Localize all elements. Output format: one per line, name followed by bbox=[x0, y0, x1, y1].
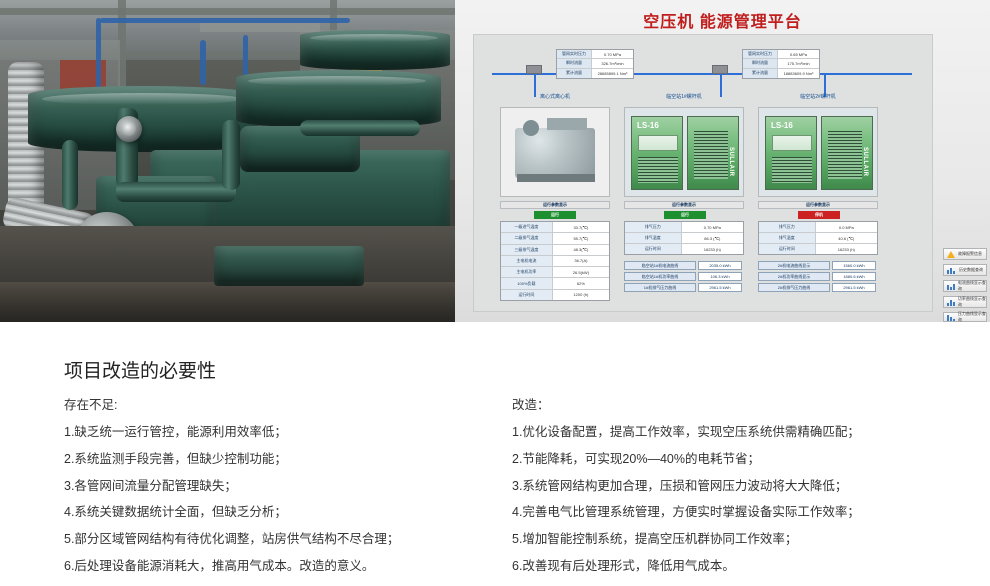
list-item: 2.节能降耗，可实现20%—40%的电耗节省； bbox=[512, 453, 972, 467]
list-item: 3.系统管网结构更加合理，压损和管网压力波动将大大降低； bbox=[512, 480, 972, 494]
table-row: 运行时间 1200 (h) bbox=[501, 290, 609, 300]
pval: 40.6 (℃) bbox=[816, 233, 877, 243]
list-item: 6.后处理设备能源消耗大，推高用气成本。改造的意义。 bbox=[64, 560, 484, 574]
pkey: 主电机电流 bbox=[501, 256, 553, 266]
infoval: 326.7m³/min bbox=[592, 59, 633, 67]
compressor-room-photo bbox=[0, 0, 455, 322]
list-item: 5.增加智能控制系统，提高空压机群协同工作效率； bbox=[512, 533, 972, 547]
warning-icon bbox=[947, 251, 955, 258]
pval: 16233 (h) bbox=[816, 244, 877, 254]
table-row: 主电机电流 36.7(A) bbox=[501, 256, 609, 267]
left-text-column: 存在不足: 1.缺乏统一运行管控，能源利用效率低； 2.系统监测手段完善，但缺少… bbox=[64, 394, 484, 586]
screw2-model-badge: LS-16 bbox=[771, 121, 793, 130]
chart-icon bbox=[947, 283, 955, 290]
screw1-curve-value-3: 2961.5 kWh bbox=[698, 283, 742, 292]
air-receiver-tank-3 bbox=[300, 30, 450, 70]
screw2-status-badge: 停机 bbox=[798, 211, 840, 219]
list-item: 2.系统监测手段完善，但缺少控制功能； bbox=[64, 453, 484, 467]
centrifugal-impeller bbox=[523, 120, 539, 136]
left-column-heading: 存在不足: bbox=[64, 394, 484, 413]
screw2-param-table: 排气压力 0.0 MPa 排气温度 40.6 (℃) 运行时间 16233 (h… bbox=[758, 221, 878, 255]
screw1-label-wrap: 临空站1#螺杆机 bbox=[624, 93, 744, 107]
table-row: 排气压力 0.0 MPa bbox=[759, 222, 877, 233]
pkey: 排气温度 bbox=[625, 233, 682, 243]
pkey: 运行时间 bbox=[759, 244, 816, 254]
screw2-label-wrap: 临空站2#螺杆机 bbox=[758, 93, 878, 107]
pkey: 运行时间 bbox=[501, 290, 553, 300]
centrifugal-frame bbox=[500, 107, 610, 197]
main-bus-line bbox=[492, 73, 912, 75]
base-frame bbox=[214, 246, 364, 286]
list-item: 5.部分区域管网结构有待优化调整，站房供气结构不尽合理； bbox=[64, 533, 484, 547]
infokey: 瞬时流量 bbox=[743, 59, 778, 67]
infoval: 175.7m³/min bbox=[778, 59, 819, 67]
right-header-infobox: 管网实时压力 0.65 MPa 瞬时流量 175.7m³/min 累计流量 18… bbox=[742, 49, 820, 79]
screw2-params-header: 运行参数显示 bbox=[758, 201, 878, 209]
blue-pipe-drop bbox=[96, 18, 101, 88]
screw1-curve-value-1: 2035.0 kWh bbox=[698, 261, 742, 270]
list-item: 1.缺乏统一运行管控，能源利用效率低； bbox=[64, 426, 484, 440]
right-column-heading: 改造： bbox=[512, 394, 972, 413]
pval: 33.7(℃) bbox=[553, 222, 609, 232]
side-button-pressure-curve[interactable]: 压力曲线显示查询 bbox=[943, 312, 987, 322]
pval: 55.7(℃) bbox=[553, 233, 609, 243]
table-row: 排气温度 86.3 (℃) bbox=[625, 233, 743, 244]
centrifugal-duct bbox=[547, 118, 587, 130]
screw2-button-group: 2#机电流曲线显示 1560.0 kWh 2#机功率曲线显示 1880.6 kW… bbox=[758, 261, 878, 292]
infoval: 18883609.9 Nm³ bbox=[778, 69, 819, 78]
screw1-curve-button-3[interactable]: 1#机排气压力曲线 bbox=[624, 283, 696, 292]
pkey: 排气压力 bbox=[625, 222, 682, 232]
screw1-param-table: 排气压力 0.70 MPa 排气温度 86.3 (℃) 运行时间 16233 (… bbox=[624, 221, 744, 255]
page-title: 项目改造的必要性 bbox=[64, 356, 216, 383]
vertical-pipe-2 bbox=[222, 120, 240, 190]
infokey: 累计流量 bbox=[557, 69, 592, 78]
centrifugal-base bbox=[517, 174, 595, 182]
table-row: 主电机功率 26.5(kW) bbox=[501, 267, 609, 278]
device-label-screw-2: 临空站2#螺杆机 bbox=[758, 93, 878, 100]
table-row: 累计流量 28685899.1 Nm³ bbox=[557, 69, 633, 78]
infoval: 28685899.1 Nm³ bbox=[592, 69, 633, 78]
screw1-curve-button-2[interactable]: 临空站1#机功率曲线 bbox=[624, 272, 696, 281]
side-button-current-curve-label: 电流曲线显示查询 bbox=[958, 280, 986, 292]
pkey: 二级排气温度 bbox=[501, 233, 553, 243]
side-button-history-label: 历史数据查询 bbox=[959, 267, 983, 273]
side-button-current-curve[interactable]: 电流曲线显示查询 bbox=[943, 280, 987, 292]
list-item: 4.系统关键数据统计全面，但缺乏分析； bbox=[64, 506, 484, 520]
screw-machine-graphic-1b: SULLAIR bbox=[687, 116, 739, 190]
pval: 16233 (h) bbox=[682, 244, 743, 254]
pval: 26.5(kW) bbox=[553, 267, 609, 277]
blue-pipe-drop-2 bbox=[200, 40, 206, 85]
table-row: 瞬时流量 175.7m³/min bbox=[743, 59, 819, 68]
scada-title: 空压机 能源管理平台 bbox=[455, 8, 990, 32]
screw2-curve-value-1: 1560.0 kWh bbox=[832, 261, 876, 270]
horizontal-pipe bbox=[116, 182, 236, 202]
pkey: 主电机功率 bbox=[501, 267, 553, 277]
screw2-curve-button-1[interactable]: 2#机电流曲线显示 bbox=[758, 261, 830, 270]
list-item: 3.各管网间流量分配管理缺失； bbox=[64, 480, 484, 494]
side-button-power-curve-label: 功率曲线显示查询 bbox=[958, 296, 986, 308]
centrifugal-label-wrap: 离心式离心机 bbox=[500, 93, 610, 107]
screw1-brand-text: SULLAIR bbox=[728, 147, 734, 177]
table-row: 管网实时压力 0.70 MPa bbox=[557, 50, 633, 59]
table-row: 运行时间 16233 (h) bbox=[759, 244, 877, 254]
screw2-control-panel bbox=[772, 135, 812, 151]
list-item: 6.改善现有后处理形式，降低用气成本。 bbox=[512, 560, 972, 574]
screw1-button-group: 临空站1#机电流曲线 2035.0 kWh 临空站1#机功率曲线 106.3 k… bbox=[624, 261, 744, 292]
screw2-frame: LS-16 SULLAIR bbox=[758, 107, 878, 197]
list-item: 1.优化设备配置，提高工作效率，实现空压系统供需精确匹配； bbox=[512, 426, 972, 440]
list-item: 4.完善电气比管理系统管理，方便实时掌握设备实际工作效率； bbox=[512, 506, 972, 520]
pkey: 排气压力 bbox=[759, 222, 816, 232]
pval: 86.3 (℃) bbox=[682, 233, 743, 243]
table-row: 排气温度 40.6 (℃) bbox=[759, 233, 877, 244]
table-row: 三级排气温度 48.3(℃) bbox=[501, 245, 609, 256]
infokey: 累计流量 bbox=[743, 69, 778, 78]
pval: 1200 (h) bbox=[553, 290, 609, 300]
side-button-alarm[interactable]: 故障报警信息 bbox=[943, 248, 987, 260]
screw1-frame: LS-16 SULLAIR bbox=[624, 107, 744, 197]
right-text-column: 改造： 1.优化设备配置，提高工作效率，实现空压系统供需精确匹配； 2.节能降耗… bbox=[512, 394, 972, 586]
pval: 0.0 MPa bbox=[816, 222, 877, 232]
screw1-control-panel bbox=[638, 135, 678, 151]
table-row: 累计流量 18883609.9 Nm³ bbox=[743, 69, 819, 78]
pval: 0.70 MPa bbox=[682, 222, 743, 232]
screw1-params-header: 运行参数显示 bbox=[624, 201, 744, 209]
screw-machine-graphic-2: LS-16 bbox=[765, 116, 817, 190]
table-row: 运行时间 16233 (h) bbox=[625, 244, 743, 254]
chart-icon bbox=[947, 314, 955, 321]
pkey: 运行时间 bbox=[625, 244, 682, 254]
pkey: 一级进气温度 bbox=[501, 222, 553, 232]
top-image-strip: 空压机 能源管理平台 管网实时压力 0.70 MPa 瞬时流量 bbox=[0, 0, 990, 322]
valve-icon-2[interactable] bbox=[712, 65, 728, 74]
table-row: 管网实时压力 0.65 MPa bbox=[743, 50, 819, 59]
side-button-history[interactable]: 历史数据查询 bbox=[943, 264, 987, 276]
pval: 48.3(℃) bbox=[553, 245, 609, 255]
screw1b-vent-grille bbox=[694, 131, 728, 179]
table-row: 一级进气温度 33.7(℃) bbox=[501, 222, 609, 233]
blue-pipe-overhead bbox=[100, 18, 350, 23]
device-label-screw-1: 临空站1#螺杆机 bbox=[624, 93, 744, 100]
table-row: 排气压力 0.70 MPa bbox=[625, 222, 743, 233]
infokey: 管网实时压力 bbox=[557, 50, 592, 58]
side-button-alarm-label: 故障报警信息 bbox=[958, 251, 982, 257]
valve-handwheel bbox=[116, 116, 142, 142]
horizontal-pipe-2 bbox=[300, 120, 420, 136]
ceiling-beam bbox=[0, 8, 455, 15]
side-button-power-curve[interactable]: 功率曲线显示查询 bbox=[943, 296, 987, 308]
left-header-infobox: 管网实时压力 0.70 MPa 瞬时流量 326.7m³/min 累计流量 28… bbox=[556, 49, 634, 79]
chart-icon bbox=[947, 299, 955, 306]
scada-panel: 空压机 能源管理平台 管网实时压力 0.70 MPa 瞬时流量 bbox=[455, 0, 990, 322]
screw2-curve-button-3[interactable]: 2#机排气压力曲线 bbox=[758, 283, 830, 292]
screw1-curve-button-1[interactable]: 临空站1#机电流曲线 bbox=[624, 261, 696, 270]
table-row: 二级排气温度 55.7(℃) bbox=[501, 233, 609, 244]
table-row: 100%负载 62% bbox=[501, 278, 609, 289]
chart-icon bbox=[947, 267, 956, 274]
scada-canvas: 管网实时压力 0.70 MPa 瞬时流量 326.7m³/min 累计流量 28… bbox=[473, 34, 933, 312]
centrifugal-machine-graphic bbox=[515, 128, 595, 178]
infoval: 0.70 MPa bbox=[592, 50, 633, 58]
pval: 62% bbox=[553, 278, 609, 288]
pkey: 排气温度 bbox=[759, 233, 816, 243]
device-label-centrifugal: 离心式离心机 bbox=[500, 93, 610, 100]
infokey: 瞬时流量 bbox=[557, 59, 592, 67]
centrifugal-status-badge: 运行 bbox=[534, 211, 576, 219]
screw1-model-badge: LS-16 bbox=[637, 121, 659, 130]
valve-icon-1[interactable] bbox=[526, 65, 542, 74]
bottom-text-section: 项目改造的必要性 存在不足: 1.缺乏统一运行管控，能源利用效率低； 2.系统监… bbox=[0, 322, 990, 586]
screw1-vent-grille bbox=[638, 157, 678, 183]
screw2-curve-button-2[interactable]: 2#机功率曲线显示 bbox=[758, 272, 830, 281]
screw2-curve-value-3: 2961.5 kWh bbox=[832, 283, 876, 292]
pval: 36.7(A) bbox=[553, 256, 609, 266]
floor-foreground bbox=[0, 282, 455, 322]
screw2b-vent-grille bbox=[828, 131, 862, 179]
pkey: 三级排气温度 bbox=[501, 245, 553, 255]
vertical-pipe-3 bbox=[62, 140, 78, 210]
screw2-brand-text: SULLAIR bbox=[862, 147, 868, 177]
screw2-vent-grille bbox=[772, 157, 812, 183]
centrifugal-params-header: 运行参数显示 bbox=[500, 201, 610, 209]
infokey: 管网实时压力 bbox=[743, 50, 778, 58]
pkey: 100%负载 bbox=[501, 278, 553, 288]
screw-machine-graphic-1: LS-16 bbox=[631, 116, 683, 190]
slide-page: 空压机 能源管理平台 管网实时压力 0.70 MPa 瞬时流量 bbox=[0, 0, 990, 586]
screw1-curve-value-2: 106.3 kWh bbox=[698, 272, 742, 281]
screw2-curve-value-2: 1880.6 kWh bbox=[832, 272, 876, 281]
centrifugal-param-table: 一级进气温度 33.7(℃) 二级排气温度 55.7(℃) 三级排气温度 48.… bbox=[500, 221, 610, 301]
screw-machine-graphic-2b: SULLAIR bbox=[821, 116, 873, 190]
infoval: 0.65 MPa bbox=[778, 50, 819, 58]
table-row: 瞬时流量 326.7m³/min bbox=[557, 59, 633, 68]
screw1-status-badge: 运行 bbox=[664, 211, 706, 219]
